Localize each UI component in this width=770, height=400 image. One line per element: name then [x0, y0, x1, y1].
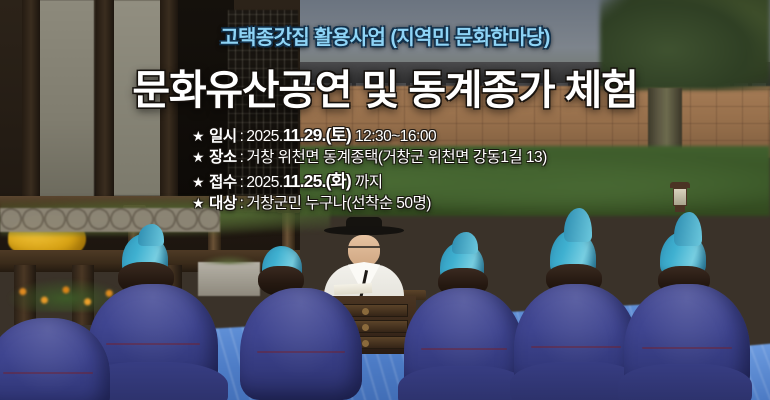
detail-row-audience: ★ 대상 : 거창군민 누구나(선착순 50명): [192, 191, 547, 214]
star-icon: ★: [192, 195, 204, 212]
gat-hat-brim: [324, 226, 404, 235]
detail-row-date: ★ 일시 : 2025. 11.29.(토) 12:30~16:00: [192, 122, 547, 145]
detail-label: 장소: [209, 145, 237, 167]
student-figure: [616, 228, 756, 400]
detail-value-prefix: 2025.: [246, 174, 282, 192]
detail-label: 접수: [209, 170, 237, 192]
detail-value-prefix: 거창 위천면 동계종택(거창군 위천면 강동1길 13): [246, 145, 546, 167]
student-figure: [0, 300, 122, 400]
detail-row-registration: ★ 접수 : 2025. 11.25.(화) 까지: [192, 168, 547, 191]
detail-label: 대상: [209, 191, 237, 213]
poster-detail-list: ★ 일시 : 2025. 11.29.(토) 12:30~16:00 ★ 장소 …: [192, 122, 547, 214]
detail-value-strong: 11.25.(화): [283, 168, 351, 193]
detail-value-prefix: 거창군민 누구나(선착순 50명): [246, 191, 431, 213]
star-icon: ★: [192, 174, 204, 191]
student-figure: [398, 238, 528, 400]
navy-hanbok-robe: [0, 318, 110, 400]
detail-label: 일시: [209, 124, 237, 146]
detail-separator: :: [240, 195, 244, 213]
seated-lap: [618, 364, 752, 400]
detail-value-strong: 11.29.(토): [283, 122, 351, 147]
event-poster: 고택종갓집 활용사업 (지역민 문화한마당) 문화유산공연 및 동계종가 체험 …: [0, 0, 770, 400]
detail-row-venue: ★ 장소 : 거창 위천면 동계종택(거창군 위천면 강동1길 13): [192, 145, 547, 168]
student-figure: [252, 248, 372, 400]
detail-separator: :: [240, 174, 244, 192]
detail-value-prefix: 2025.: [246, 128, 282, 146]
detail-value-suffix: 까지: [355, 170, 383, 192]
star-icon: ★: [192, 128, 204, 145]
detail-value-suffix: 12:30~16:00: [355, 128, 436, 146]
poster-headline: 문화유산공연 및 동계종가 체험: [0, 56, 770, 116]
teal-hat-tip: [138, 224, 164, 246]
poster-eyebrow-title: 고택종갓집 활용사업 (지역민 문화한마당): [0, 21, 770, 50]
low-stone-wall: [0, 208, 220, 232]
teal-hat-tip: [452, 232, 478, 254]
navy-hanbok-robe: [240, 288, 362, 400]
detail-separator: :: [240, 149, 244, 167]
detail-separator: :: [240, 128, 244, 146]
seated-lap: [398, 366, 528, 400]
star-icon: ★: [192, 149, 204, 166]
